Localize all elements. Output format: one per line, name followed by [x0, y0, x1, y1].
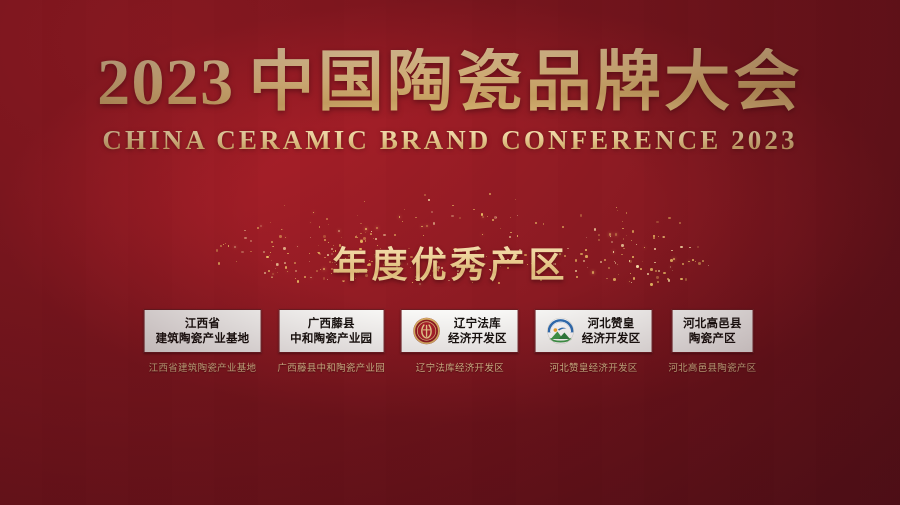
award-item[interactable]: 河北赞皇经济开发区河北赞皇经济开发区 [535, 309, 653, 374]
page-title: 2023中国陶瓷品牌大会 [0, 48, 900, 117]
award-plate[interactable]: 江西省建筑陶瓷产业基地 [144, 309, 262, 353]
award-plate-line1: 河北赞皇 [582, 316, 641, 331]
award-plate-line1: 河北高邑县 [683, 316, 742, 331]
award-plate-text: 河北赞皇经济开发区 [582, 316, 641, 346]
section-heading-block: 年度优秀产区 [0, 236, 900, 288]
award-logo [547, 317, 575, 345]
award-plate-text: 辽宁法库经济开发区 [448, 316, 507, 346]
award-caption: 江西省建筑陶瓷产业基地 [149, 360, 257, 374]
award-plate[interactable]: 河北赞皇经济开发区 [535, 309, 653, 353]
fanku-medallion-icon [413, 317, 441, 345]
award-caption: 辽宁法库经济开发区 [416, 360, 504, 374]
title-chinese: 中国陶瓷品牌大会 [248, 46, 802, 119]
award-plate-line2: 中和陶瓷产业园 [290, 331, 372, 346]
award-list: 江西省建筑陶瓷产业基地江西省建筑陶瓷产业基地广西藤县中和陶瓷产业园广西藤县中和陶… [144, 309, 757, 374]
award-plate-text: 广西藤县中和陶瓷产业园 [290, 316, 372, 346]
award-plate-line2: 经济开发区 [448, 331, 507, 346]
award-plate[interactable]: 辽宁法库经济开发区 [401, 309, 519, 353]
section-heading: 年度优秀产区 [332, 236, 567, 288]
award-item[interactable]: 广西藤县中和陶瓷产业园广西藤县中和陶瓷产业园 [277, 309, 385, 374]
award-plate-line1: 辽宁法库 [448, 316, 507, 331]
zanhuang-landscape-icon [547, 317, 575, 345]
title-english: CHINA CERAMIC BRAND CONFERENCE 2023 [0, 125, 900, 156]
award-plate[interactable]: 广西藤县中和陶瓷产业园 [278, 309, 384, 353]
award-item[interactable]: 江西省建筑陶瓷产业基地江西省建筑陶瓷产业基地 [144, 309, 262, 374]
award-plate-line2: 建筑陶瓷产业基地 [156, 331, 250, 346]
title-block: 2023中国陶瓷品牌大会 CHINA CERAMIC BRAND CONFERE… [0, 48, 900, 156]
award-plate[interactable]: 河北高邑县陶瓷产区 [671, 309, 754, 353]
award-plate-text: 河北高邑县陶瓷产区 [683, 316, 742, 346]
award-plate-line1: 江西省 [156, 316, 250, 331]
title-year: 2023 [97, 46, 234, 119]
award-caption: 广西藤县中和陶瓷产业园 [277, 360, 385, 374]
award-caption: 河北高邑县陶瓷产区 [668, 360, 756, 374]
award-plate-text: 江西省建筑陶瓷产业基地 [156, 316, 250, 346]
award-plate-line2: 经济开发区 [582, 331, 641, 346]
award-plate-line1: 广西藤县 [290, 316, 372, 331]
poster-canvas: 2023中国陶瓷品牌大会 CHINA CERAMIC BRAND CONFERE… [0, 0, 900, 505]
award-plate-line2: 陶瓷产区 [683, 331, 742, 346]
award-item[interactable]: 河北高邑县陶瓷产区河北高邑县陶瓷产区 [668, 309, 756, 374]
award-item[interactable]: 辽宁法库经济开发区辽宁法库经济开发区 [401, 309, 519, 374]
award-caption: 河北赞皇经济开发区 [549, 360, 637, 374]
award-logo [413, 317, 441, 345]
